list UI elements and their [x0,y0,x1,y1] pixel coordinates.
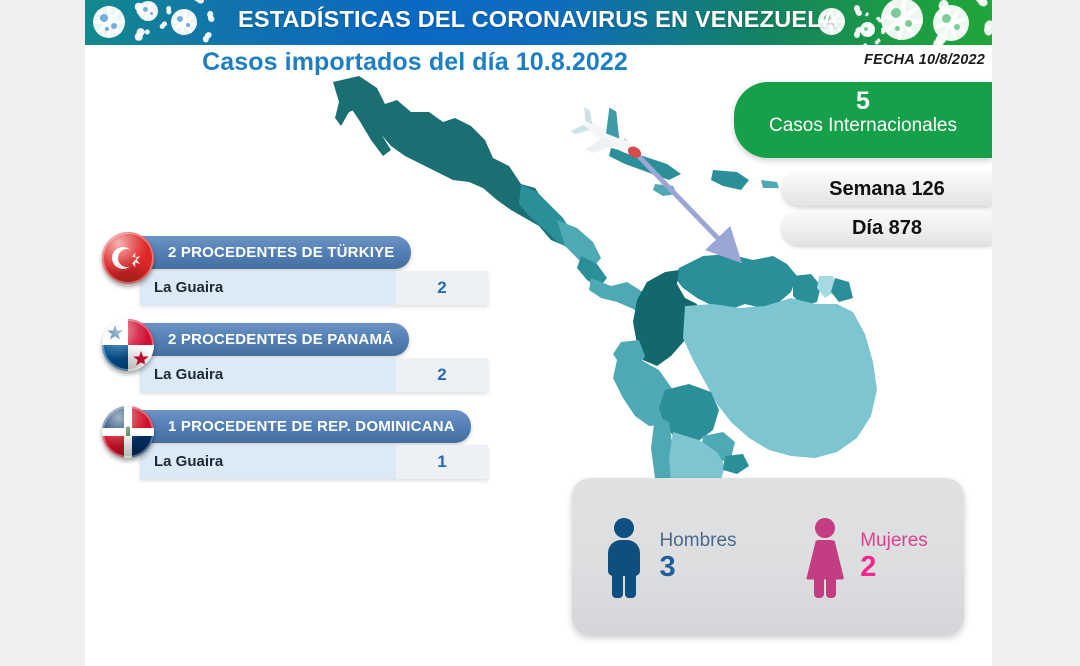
flag-gloss [102,319,154,371]
map-region-hispaniola [711,170,749,190]
map-region-french-guiana [831,278,853,302]
international-cases-value: 5 [734,88,992,114]
table-row: La Guaira 2 [140,358,488,392]
map-region-brazil [683,298,877,458]
header-banner: ESTADÍSTICAS DEL CORONAVIRUS EN VENEZUEL… [85,0,992,45]
map-region-venezuela [675,254,797,310]
origin-count: 1 [396,445,488,479]
origin-count: 2 [396,358,488,392]
origin-count: 2 [396,271,488,305]
gender-men-text: Hombres 3 [659,530,736,584]
origin-title: 2 PROCEDENTES DE PANAMÁ [131,323,409,356]
origin-place: La Guaira [140,271,396,305]
content-card: ESTADÍSTICAS DEL CORONAVIRUS EN VENEZUEL… [85,0,992,666]
flag-gloss [102,406,154,458]
arrow-icon [623,140,735,256]
panama-flag-icon [102,319,154,371]
gender-men-value: 3 [659,551,736,583]
gender-women: Mujeres 2 [768,518,964,596]
status-badge-dia: Día 878 [782,211,992,245]
female-figure-icon [804,518,846,596]
status-badge-semana: Semana 126 [782,172,992,206]
gender-men-label: Hombres [659,530,736,551]
map-region-puerto-rico [761,180,779,188]
gender-women-value: 2 [860,551,928,583]
international-cases-label: Casos Internacionales [734,114,992,138]
table-row: La Guaira 2 [140,271,488,305]
dominican-republic-flag-icon [102,406,154,458]
gender-panel: Hombres 3 Mujeres 2 [572,478,964,635]
page-title: ESTADÍSTICAS DEL CORONAVIRUS EN VENEZUEL… [85,6,992,33]
flag-gloss [102,232,154,284]
origin-title: 2 PROCEDENTES DE TÜRKIYE [131,236,411,269]
infographic-page: ESTADÍSTICAS DEL CORONAVIRUS EN VENEZUEL… [0,0,1080,666]
international-cases-box: 5 Casos Internacionales [734,82,992,158]
origin-place: La Guaira [140,445,396,479]
male-figure-icon [603,518,645,596]
gender-men: Hombres 3 [572,518,768,596]
origin-title: 1 PROCEDENTE DE REP. DOMINICANA [131,410,471,443]
turkey-flag-icon [102,232,154,284]
origin-place: La Guaira [140,358,396,392]
table-row: La Guaira 1 [140,445,488,479]
gender-women-label: Mujeres [860,530,928,551]
gender-women-text: Mujeres 2 [860,530,928,584]
map-region-uruguay [723,454,749,474]
